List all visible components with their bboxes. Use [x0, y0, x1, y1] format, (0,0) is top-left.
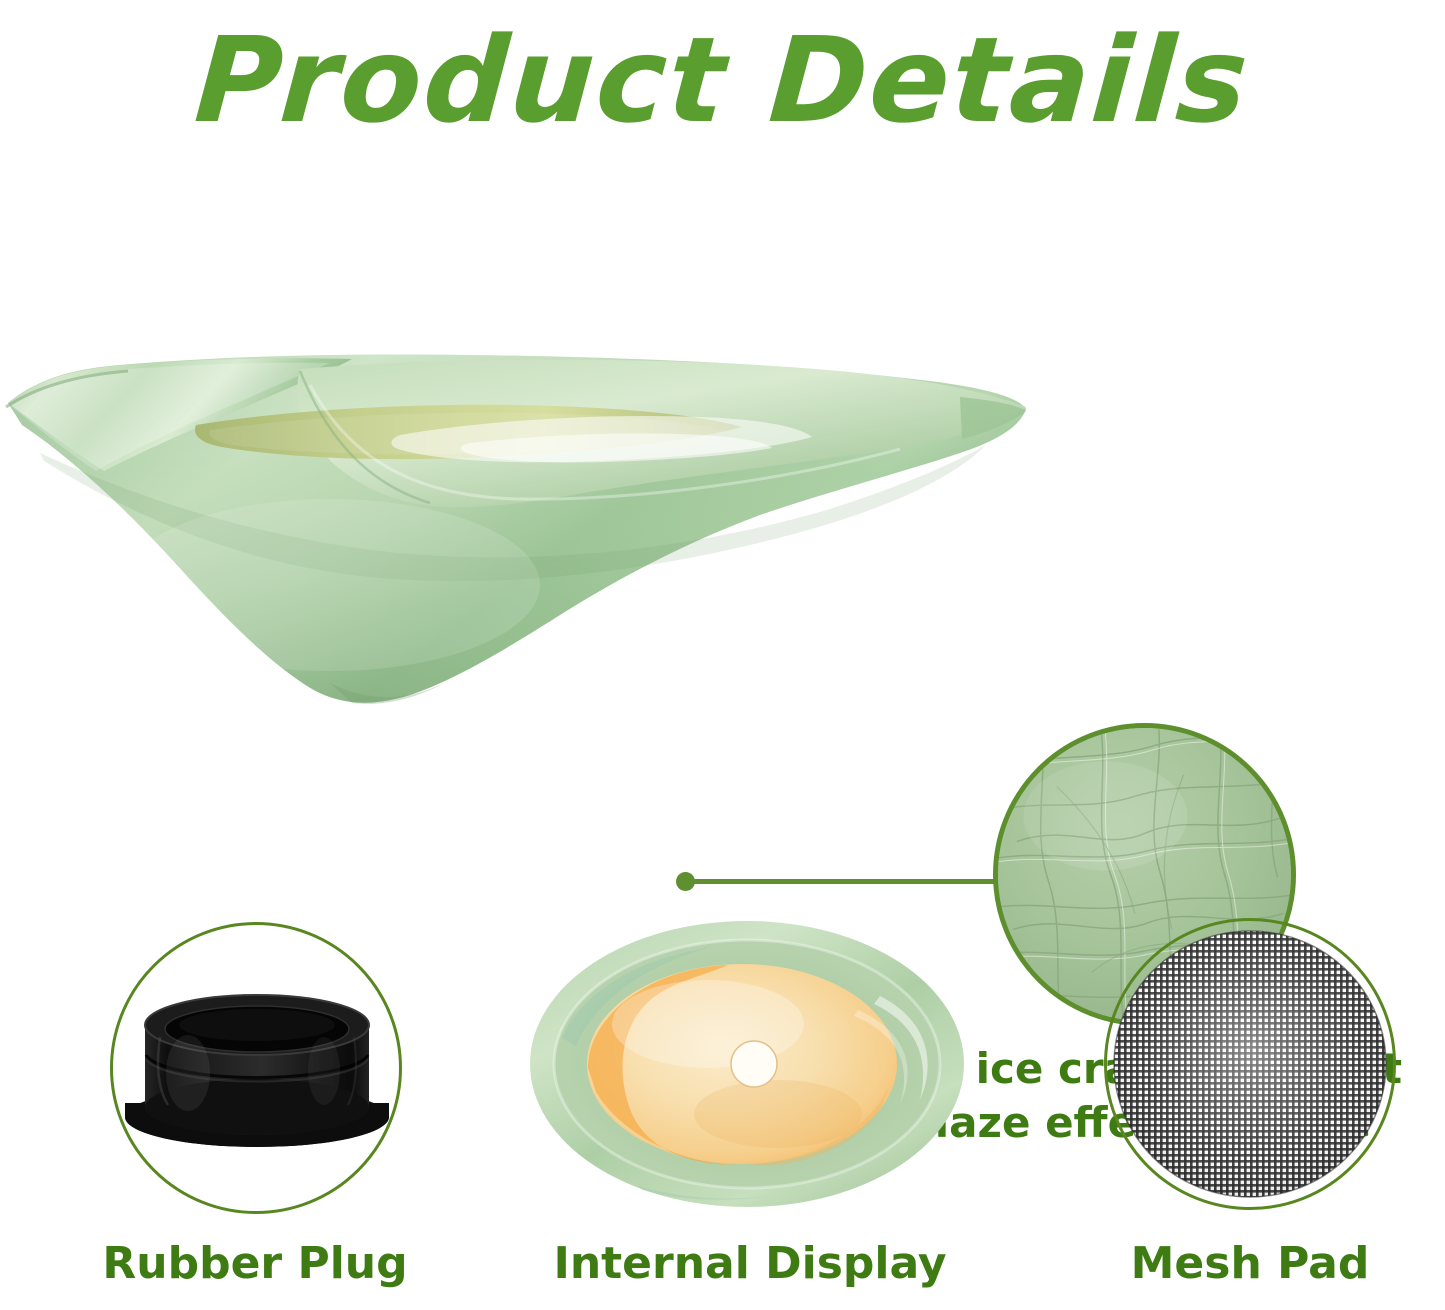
internal-display-label: Internal Display	[520, 1240, 980, 1288]
rubber-plug-label: Rubber Plug	[40, 1240, 470, 1288]
hero-section: The ice cracked bright glaze effect surf…	[0, 260, 1445, 900]
rubber-plug-image	[118, 985, 396, 1155]
page-title: Product Details	[0, 14, 1445, 146]
product-bowl-image	[0, 285, 1030, 715]
internal-display-image	[528, 918, 966, 1210]
mesh-pad-label: Mesh Pad	[1050, 1240, 1445, 1288]
mesh-pad-image	[1112, 926, 1388, 1202]
callout-leader-line	[692, 879, 1000, 884]
